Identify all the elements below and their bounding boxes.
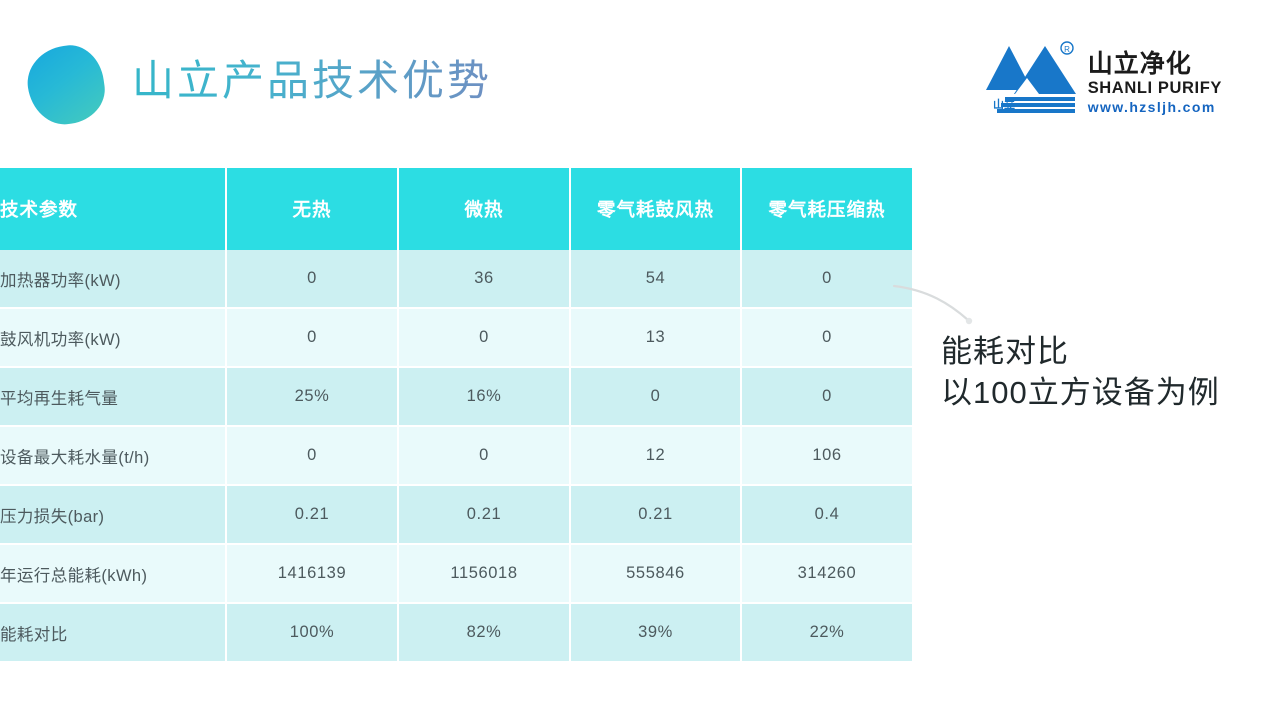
- cell-value: 0: [398, 426, 570, 485]
- table-row: 能耗对比 100% 82% 39% 22%: [0, 603, 912, 662]
- cell-value: 36: [398, 250, 570, 308]
- row-label: 压力损失(bar): [0, 485, 226, 544]
- cell-value: 0.4: [741, 485, 912, 544]
- brand-wordmark: 山立净化 SHANLI PURIFY www.hzsljh.com: [1088, 38, 1222, 114]
- tech-comparison-table: 技术参数 无热 微热 零气耗鼓风热 零气耗压缩热 加热器功率(kW) 0 36 …: [0, 168, 912, 663]
- row-label: 设备最大耗水量(t/h): [0, 426, 226, 485]
- callout-line-1: 能耗对比: [941, 331, 1220, 372]
- callout-block: 能耗对比 以100立方设备为例: [941, 331, 1220, 413]
- cell-value: 1156018: [398, 544, 570, 603]
- row-label: 鼓风机功率(kW): [0, 308, 226, 367]
- brand-name-cn: 山立净化: [1088, 52, 1222, 77]
- cell-value: 555846: [570, 544, 741, 603]
- row-label: 能耗对比: [0, 603, 226, 662]
- row-label: 年运行总能耗(kWh): [0, 544, 226, 603]
- cell-value: 0: [226, 426, 398, 485]
- row-label: 平均再生耗气量: [0, 367, 226, 426]
- shanli-mountain-logo-icon: R 山立: [983, 38, 1079, 116]
- table-row: 年运行总能耗(kWh) 1416139 1156018 555846 31426…: [0, 544, 912, 603]
- decorative-blob-icon: [23, 41, 109, 129]
- cell-value: 314260: [741, 544, 912, 603]
- cell-value: 16%: [398, 367, 570, 426]
- brand-website: www.hzsljh.com: [1088, 100, 1222, 114]
- table-row: 平均再生耗气量 25% 16% 0 0: [0, 367, 912, 426]
- table-row: 压力损失(bar) 0.21 0.21 0.21 0.4: [0, 485, 912, 544]
- table-body: 加热器功率(kW) 0 36 54 0 鼓风机功率(kW) 0 0 13 0 平…: [0, 250, 912, 662]
- page-title: 山立产品技术优势: [132, 56, 492, 108]
- cell-value: 0.21: [398, 485, 570, 544]
- column-header-compression: 零气耗压缩热: [741, 168, 912, 250]
- column-header-blower: 零气耗鼓风热: [570, 168, 741, 250]
- column-header-microheat: 微热: [398, 168, 570, 250]
- table-row: 设备最大耗水量(t/h) 0 0 12 106: [0, 426, 912, 485]
- cell-value: 25%: [226, 367, 398, 426]
- cell-value: 82%: [398, 603, 570, 662]
- brand-logo: R 山立 山立净化 SHANLI PURIFY www.hzsljh.com: [983, 38, 1222, 116]
- cell-value: 0: [741, 367, 912, 426]
- cell-value: 0: [226, 250, 398, 308]
- column-header-heatless: 无热: [226, 168, 398, 250]
- cell-value: 0: [570, 367, 741, 426]
- cell-value: 1416139: [226, 544, 398, 603]
- table-row: 加热器功率(kW) 0 36 54 0: [0, 250, 912, 308]
- brand-name-en: SHANLI PURIFY: [1088, 80, 1222, 97]
- cell-value: 0.21: [570, 485, 741, 544]
- cell-value: 0.21: [226, 485, 398, 544]
- cell-value: 22%: [741, 603, 912, 662]
- cell-value: 0: [741, 250, 912, 308]
- cell-value: 0: [398, 308, 570, 367]
- cell-value: 0: [226, 308, 398, 367]
- cell-value: 39%: [570, 603, 741, 662]
- slide-canvas: 山立产品技术优势 R 山立 山立净化 SHANLI PURIFY www.hzs…: [0, 0, 1280, 720]
- cell-value: 13: [570, 308, 741, 367]
- table-header-row: 技术参数 无热 微热 零气耗鼓风热 零气耗压缩热: [0, 168, 912, 250]
- table-row: 鼓风机功率(kW) 0 0 13 0: [0, 308, 912, 367]
- cell-value: 106: [741, 426, 912, 485]
- cell-value: 12: [570, 426, 741, 485]
- callout-line-2: 以100立方设备为例: [941, 372, 1220, 413]
- callout-connector-line: [892, 268, 1072, 338]
- svg-text:山立: 山立: [993, 97, 1015, 111]
- row-label: 加热器功率(kW): [0, 250, 226, 308]
- cell-value: 100%: [226, 603, 398, 662]
- cell-value: 0: [741, 308, 912, 367]
- table-header: 技术参数 无热 微热 零气耗鼓风热 零气耗压缩热: [0, 168, 912, 250]
- cell-value: 54: [570, 250, 741, 308]
- svg-text:R: R: [1064, 45, 1070, 54]
- column-header-parameter: 技术参数: [0, 168, 226, 250]
